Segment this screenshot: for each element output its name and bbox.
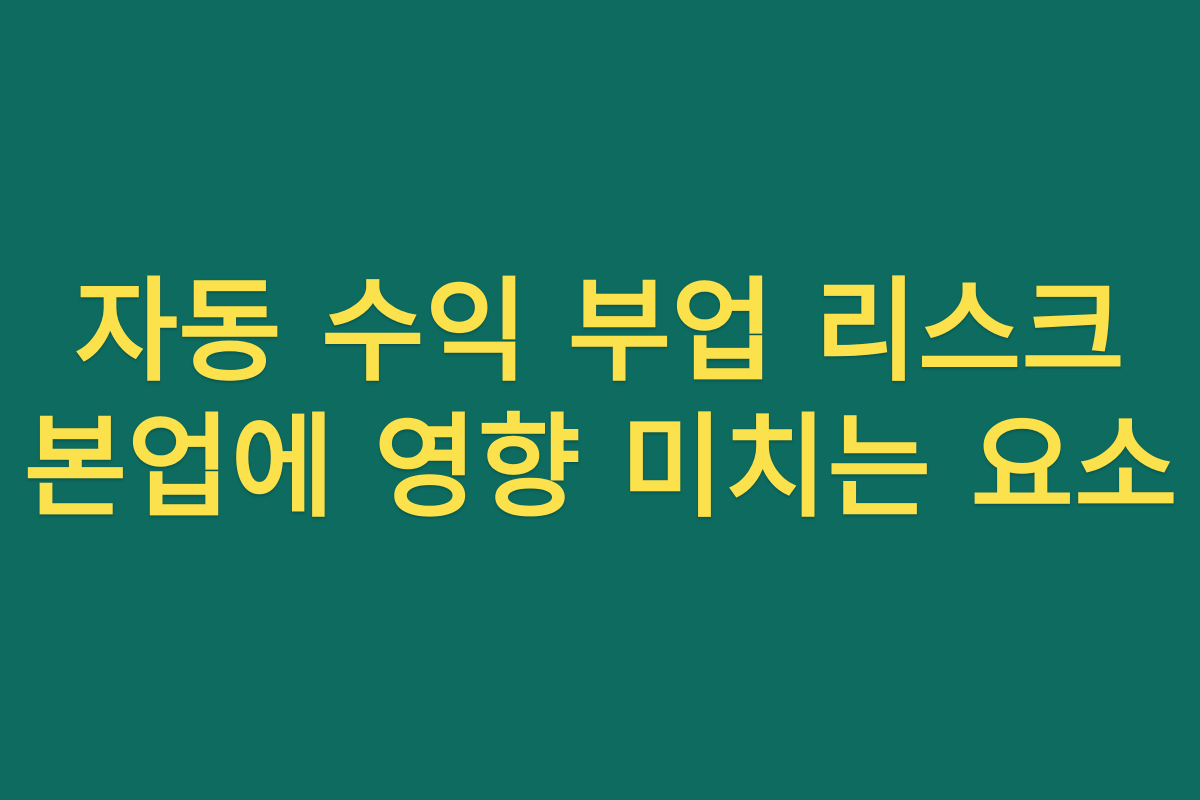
headline-block: 자동 수익 부업 리스크 본업에 영향 미치는 요소 [0,267,1200,533]
thumbnail-canvas: 자동 수익 부업 리스크 본업에 영향 미치는 요소 [0,0,1200,800]
headline-line-1: 자동 수익 부업 리스크 [24,267,1176,397]
headline-line-2: 본업에 영향 미치는 요소 [24,403,1176,533]
